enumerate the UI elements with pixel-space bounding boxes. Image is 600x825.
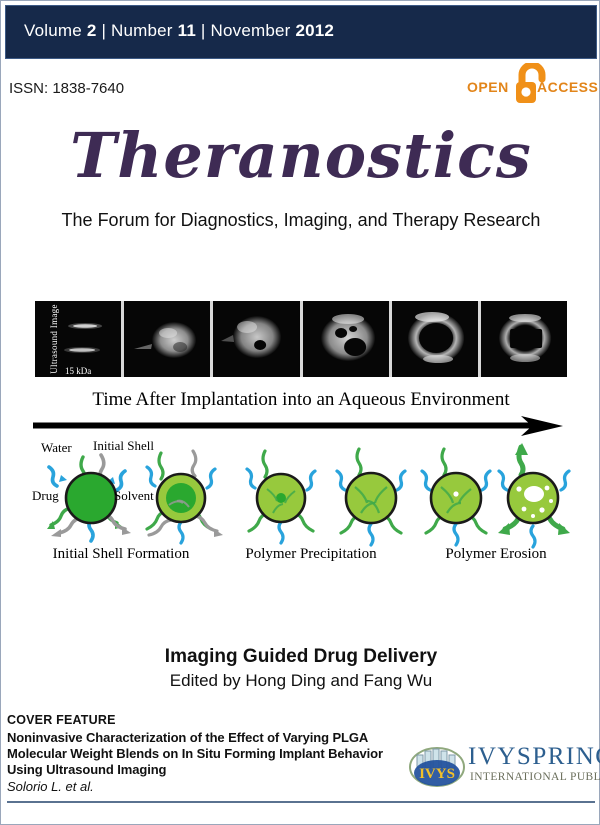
ultrasound-echo-6 xyxy=(481,301,567,377)
ultrasound-panel-1: Ultrasound Image 15 kDa xyxy=(35,301,121,377)
publisher-subtitle: INTERNATIONAL PUBLISHER xyxy=(470,771,600,783)
publisher-logo: IVYS IVYSPRING INTERNATIONAL PUBLISHER xyxy=(408,743,598,795)
separator-1: | xyxy=(101,21,106,40)
particle-4 xyxy=(337,449,405,545)
stage-label-3: Polymer Erosion xyxy=(401,546,591,563)
journal-tagline: The Forum for Diagnostics, Imaging, and … xyxy=(1,210,600,231)
label-initial-shell: Initial Shell xyxy=(93,438,154,454)
particle-2 xyxy=(147,451,223,543)
separator-2: | xyxy=(201,21,206,40)
ultrasound-panel-3 xyxy=(213,301,299,377)
ivys-emblem-text: IVYS xyxy=(419,766,455,782)
ultrasound-panel-6 xyxy=(481,301,567,377)
publisher-wordmark: IVYSPRING xyxy=(468,744,600,769)
number-label: Number xyxy=(111,21,173,40)
ultrasound-scale-label: 15 kDa xyxy=(35,366,121,376)
ultrasound-echo-4 xyxy=(303,301,389,377)
open-access-word-right: ACCESS xyxy=(537,79,598,95)
ivys-circular-emblem-icon: IVYS xyxy=(408,745,466,791)
ultrasound-panel-2 xyxy=(124,301,210,377)
cover-feature-title-line-2: Molecular Weight Blends on In Situ Formi… xyxy=(7,746,383,761)
stage-label-1: Initial Shell Formation xyxy=(26,546,216,563)
particle-5 xyxy=(422,449,490,545)
issue-theme-editors: Edited by Hong Ding and Fang Wu xyxy=(1,671,600,691)
ultrasound-echo-5 xyxy=(392,301,478,377)
label-drug: Drug xyxy=(32,488,59,504)
open-access-logo: OPEN ACCESS xyxy=(467,63,595,105)
ultrasound-echo-3 xyxy=(213,301,299,377)
cover-feature-title-line-1: Noninvasive Characterization of the Effe… xyxy=(7,730,368,745)
label-water: Water xyxy=(41,440,72,456)
month-label: November xyxy=(210,21,290,40)
particle-3 xyxy=(247,451,315,543)
issn-text: ISSN: 1838-7640 xyxy=(9,80,124,97)
timeline-arrow xyxy=(33,415,563,437)
cover-feature-kicker: COVER FEATURE xyxy=(7,713,116,727)
ultrasound-echo-2 xyxy=(124,301,210,377)
issue-line: Volume 2 | Number 11 | November 2012 xyxy=(24,21,334,41)
journal-title: Theranostics xyxy=(1,125,600,187)
number-value: 11 xyxy=(178,21,196,40)
volume-value: 2 xyxy=(87,21,97,40)
masthead-bar: Volume 2 | Number 11 | November 2012 xyxy=(5,5,597,59)
ultrasound-panel-5 xyxy=(392,301,478,377)
timeline-title: Time After Implantation into an Aqueous … xyxy=(1,389,600,411)
right-arrow-icon xyxy=(33,415,563,437)
ultrasound-image-strip: Ultrasound Image 15 kDa xyxy=(35,301,567,377)
open-access-word-left: OPEN xyxy=(467,79,509,95)
ultrasound-vertical-label: Ultrasound Image xyxy=(49,304,59,374)
particle-6 xyxy=(498,443,570,547)
year-value: 2012 xyxy=(295,21,334,40)
bottom-divider xyxy=(7,801,595,803)
cover-feature-title-line-3: Using Ultrasound Imaging xyxy=(7,762,166,777)
issue-theme-title: Imaging Guided Drug Delivery xyxy=(1,646,600,668)
cover-feature-authors: Solorio L. et al. xyxy=(7,779,94,794)
ultrasound-panel-4 xyxy=(303,301,389,377)
label-solvent: Solvent xyxy=(114,488,154,504)
volume-label: Volume xyxy=(24,21,82,40)
stage-label-2: Polymer Precipitation xyxy=(216,546,406,563)
